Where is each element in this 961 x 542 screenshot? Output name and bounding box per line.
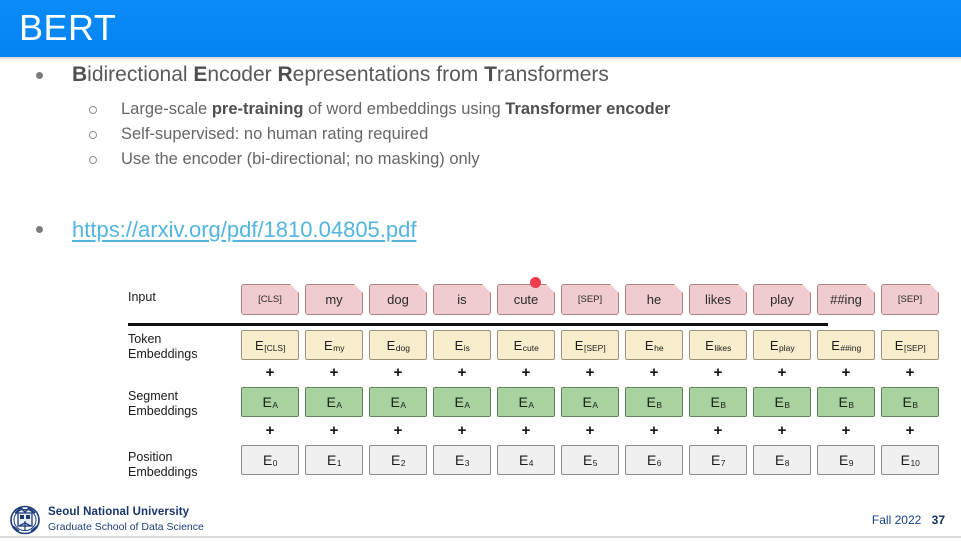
row-label-segment-line2: Embeddings [128, 404, 198, 418]
page-title: BERT [19, 6, 116, 50]
plus-symbol: + [241, 424, 299, 438]
token-embedding-base: E [455, 338, 464, 353]
segment-embedding-cell: EB [817, 387, 875, 417]
segment-embedding-cell: EB [881, 387, 939, 417]
position-embedding-cell: E8 [753, 445, 811, 475]
token-embedding-cell: E[CLS] [241, 330, 299, 360]
segment-embedding-base: E [326, 394, 335, 410]
position-embedding-subscript: 2 [401, 458, 406, 468]
segment-embedding-cell: EA [561, 387, 619, 417]
plus-symbol: + [369, 424, 427, 438]
input-token-cell: [CLS] [241, 284, 299, 315]
segment-embedding-base: E [582, 394, 591, 410]
bullet-sub-2-label: Self-supervised: no human rating require… [121, 125, 428, 143]
footer-text-block: Seoul National University Graduate Schoo… [48, 506, 204, 534]
token-embedding-base: E [387, 338, 396, 353]
position-embedding-base: E [901, 452, 910, 468]
segment-embedding-base: E [710, 394, 719, 410]
bullet-sub-2: Self-supervised: no human rating require… [0, 122, 961, 147]
plus-row-token-segment: +++++++++++ [241, 366, 939, 380]
bert-input-representation-diagram: Input Token Embeddings Segment Embedding… [128, 276, 834, 491]
row-label-position-embeddings: Position Embeddings [128, 450, 238, 480]
row-label-position-line2: Embeddings [128, 465, 198, 479]
position-embedding-base: E [711, 452, 720, 468]
position-embedding-cell: E10 [881, 445, 939, 475]
token-embedding-base: E [895, 338, 904, 353]
input-token-cell: my [305, 284, 363, 315]
row-label-segment-line1: Segment [128, 389, 178, 403]
position-embedding-cell: E6 [625, 445, 683, 475]
input-token-cell: [SEP] [881, 284, 939, 315]
segment-embedding-base: E [454, 394, 463, 410]
position-embedding-cell: E3 [433, 445, 491, 475]
plus-row-segment-position: +++++++++++ [241, 424, 939, 438]
token-embedding-base: E [831, 338, 840, 353]
plus-symbol: + [625, 366, 683, 380]
row-label-token-line2: Embeddings [128, 347, 198, 361]
bullet-sub-1-pre: Large-scale [121, 100, 212, 118]
bullet-main: Bidirectional Encoder Representations fr… [0, 61, 961, 89]
segment-embedding-cell: EA [241, 387, 299, 417]
row-label-input: Input [128, 290, 238, 305]
token-embedding-cell: Edog [369, 330, 427, 360]
plus-symbol: + [433, 424, 491, 438]
token-embedding-subscript: he [654, 343, 663, 353]
row-label-token-embeddings: Token Embeddings [128, 332, 238, 362]
organization-subtitle: Graduate School of Data Science [48, 521, 204, 534]
token-embedding-cell: Eis [433, 330, 491, 360]
plus-symbol: + [881, 424, 939, 438]
plus-symbol: + [561, 366, 619, 380]
token-embedding-cell: Ecute [497, 330, 555, 360]
bullet-circle-icon [89, 156, 97, 164]
input-token-cell: play [753, 284, 811, 315]
segment-embedding-cell: EA [305, 387, 363, 417]
position-embedding-base: E [391, 452, 400, 468]
position-embedding-subscript: 5 [593, 458, 598, 468]
plus-symbol: + [241, 366, 299, 380]
plus-symbol: + [369, 366, 427, 380]
segment-embedding-base: E [390, 394, 399, 410]
plus-symbol: + [305, 366, 363, 380]
segment-embedding-subscript: B [720, 400, 726, 410]
segment-embedding-subscript: B [912, 400, 918, 410]
position-embedding-base: E [455, 452, 464, 468]
input-token-cell: ##ing [817, 284, 875, 315]
laser-pointer-dot-icon [530, 277, 541, 288]
token-embedding-cell: Elikes [689, 330, 747, 360]
segment-embedding-subscript: A [272, 400, 278, 410]
segment-embedding-base: E [518, 394, 527, 410]
bullet-sub-3-label: Use the encoder (bi-directional; no mask… [121, 150, 480, 168]
token-embedding-subscript: my [333, 343, 344, 353]
position-embedding-subscript: 6 [657, 458, 662, 468]
segment-embedding-cell: EA [497, 387, 555, 417]
plus-symbol: + [689, 366, 747, 380]
plus-symbol: + [497, 424, 555, 438]
footer-branding: Seoul National University Graduate Schoo… [9, 504, 204, 535]
token-embedding-subscript: dog [396, 343, 410, 353]
position-embedding-cell: E1 [305, 445, 363, 475]
position-embedding-cell: E4 [497, 445, 555, 475]
row-label-segment-embeddings: Segment Embeddings [128, 389, 238, 419]
plus-symbol: + [561, 424, 619, 438]
position-embedding-subscript: 10 [910, 458, 919, 468]
position-embedding-subscript: 0 [273, 458, 278, 468]
segment-embedding-subscript: A [592, 400, 598, 410]
position-embedding-subscript: 1 [337, 458, 342, 468]
position-embedding-base: E [263, 452, 272, 468]
position-embedding-base: E [519, 452, 528, 468]
position-embedding-cell: E0 [241, 445, 299, 475]
segment-embedding-subscript: A [336, 400, 342, 410]
bullet-circle-icon [89, 106, 97, 114]
bullet-dot-icon [36, 226, 43, 233]
position-embedding-subscript: 7 [721, 458, 726, 468]
plus-symbol: + [305, 424, 363, 438]
segment-embedding-base: E [646, 394, 655, 410]
token-embedding-cell: Eplay [753, 330, 811, 360]
token-embedding-subscript: [CLS] [264, 343, 285, 353]
segment-embedding-subscript: A [400, 400, 406, 410]
position-embedding-base: E [775, 452, 784, 468]
footer-divider [0, 536, 961, 538]
token-embedding-subscript: cute [523, 343, 539, 353]
plus-symbol: + [817, 366, 875, 380]
token-embedding-base: E [514, 338, 523, 353]
university-crest-icon [9, 504, 41, 535]
segment-embedding-cell: EB [753, 387, 811, 417]
bullet-sub-1-bold2: Transformer encoder [505, 100, 670, 118]
input-token-cell: dog [369, 284, 427, 315]
plus-symbol: + [625, 424, 683, 438]
token-embedding-base: E [575, 338, 584, 353]
plus-symbol: + [817, 424, 875, 438]
position-embedding-subscript: 3 [465, 458, 470, 468]
segment-embedding-cell: EA [369, 387, 427, 417]
position-embedding-cell: E2 [369, 445, 427, 475]
plus-symbol: + [753, 366, 811, 380]
position-embedding-base: E [583, 452, 592, 468]
segment-embedding-subscript: B [848, 400, 854, 410]
input-token-cell: is [433, 284, 491, 315]
token-embedding-cell: Emy [305, 330, 363, 360]
position-embedding-subscript: 8 [785, 458, 790, 468]
token-embedding-subscript: [SEP] [904, 343, 926, 353]
input-token-cell: he [625, 284, 683, 315]
input-token-cell: cute [497, 284, 555, 315]
token-embedding-subscript: likes [714, 343, 731, 353]
input-token-row: [CLS]mydogiscute[SEP]helikesplay##ing[SE… [241, 284, 939, 315]
position-embedding-base: E [839, 452, 848, 468]
bullet-sub-1-mid: of word embeddings using [303, 100, 505, 118]
token-embedding-cell: Ehe [625, 330, 683, 360]
row-label-position-line1: Position [128, 450, 172, 464]
segment-embedding-row: EAEAEAEAEAEAEBEBEBEBEB [241, 387, 939, 417]
plus-symbol: + [497, 366, 555, 380]
segment-embedding-subscript: B [656, 400, 662, 410]
token-embedding-subscript: ##ing [840, 343, 861, 353]
segment-embedding-base: E [902, 394, 911, 410]
token-embedding-cell: E[SEP] [561, 330, 619, 360]
row-label-token-line1: Token [128, 332, 161, 346]
position-embedding-cell: E5 [561, 445, 619, 475]
position-embedding-subscript: 4 [529, 458, 534, 468]
token-embedding-row: E[CLS]EmyEdogEisEcuteE[SEP]EheElikesEpla… [241, 330, 939, 360]
term-label: Fall 2022 [872, 513, 921, 527]
position-embedding-base: E [327, 452, 336, 468]
slide-title-banner [0, 0, 961, 57]
token-embedding-base: E [255, 338, 264, 353]
paper-link[interactable]: https://arxiv.org/pdf/1810.04805.pdf [72, 217, 417, 242]
position-embedding-cell: E7 [689, 445, 747, 475]
bullet-circle-icon [89, 131, 97, 139]
bullet-sub-3: Use the encoder (bi-directional; no mask… [0, 147, 961, 172]
segment-embedding-base: E [774, 394, 783, 410]
segment-embedding-subscript: A [528, 400, 534, 410]
segment-embedding-base: E [262, 394, 271, 410]
input-token-cell: [SEP] [561, 284, 619, 315]
token-embedding-cell: E[SEP] [881, 330, 939, 360]
plus-symbol: + [433, 366, 491, 380]
token-embedding-base: E [705, 338, 714, 353]
segment-embedding-subscript: A [464, 400, 470, 410]
token-embedding-base: E [770, 338, 779, 353]
token-embedding-subscript: play [779, 343, 795, 353]
segment-embedding-cell: EA [433, 387, 491, 417]
position-embedding-row: E0E1E2E3E4E5E6E7E8E9E10 [241, 445, 939, 475]
plus-symbol: + [689, 424, 747, 438]
segment-embedding-base: E [838, 394, 847, 410]
segment-embedding-cell: EB [625, 387, 683, 417]
bullet-main-label: Bidirectional Encoder Representations fr… [72, 63, 609, 86]
token-embedding-cell: E##ing [817, 330, 875, 360]
input-token-cell: likes [689, 284, 747, 315]
bullet-dot-icon [36, 72, 43, 79]
bullet-sub-1: Large-scale pre-training of word embeddi… [0, 97, 961, 122]
token-embedding-subscript: [SEP] [584, 343, 606, 353]
plus-symbol: + [753, 424, 811, 438]
page-number: 37 [932, 513, 945, 527]
token-embedding-base: E [645, 338, 654, 353]
position-embedding-subscript: 9 [849, 458, 854, 468]
link-bullet-row: https://arxiv.org/pdf/1810.04805.pdf [0, 215, 961, 247]
footer-meta: Fall 2022 37 [872, 513, 945, 527]
token-embedding-subscript: is [464, 343, 470, 353]
token-embedding-base: E [324, 338, 333, 353]
position-embedding-cell: E9 [817, 445, 875, 475]
slide-content: Bidirectional Encoder Representations fr… [0, 61, 961, 172]
position-embedding-base: E [647, 452, 656, 468]
segment-embedding-subscript: B [784, 400, 790, 410]
segment-embedding-cell: EB [689, 387, 747, 417]
bullet-sub-1-bold1: pre-training [212, 100, 304, 118]
diagram-divider [128, 323, 828, 326]
organization-name: Seoul National University [48, 506, 204, 519]
bullet-link: https://arxiv.org/pdf/1810.04805.pdf [0, 215, 961, 245]
plus-symbol: + [881, 366, 939, 380]
